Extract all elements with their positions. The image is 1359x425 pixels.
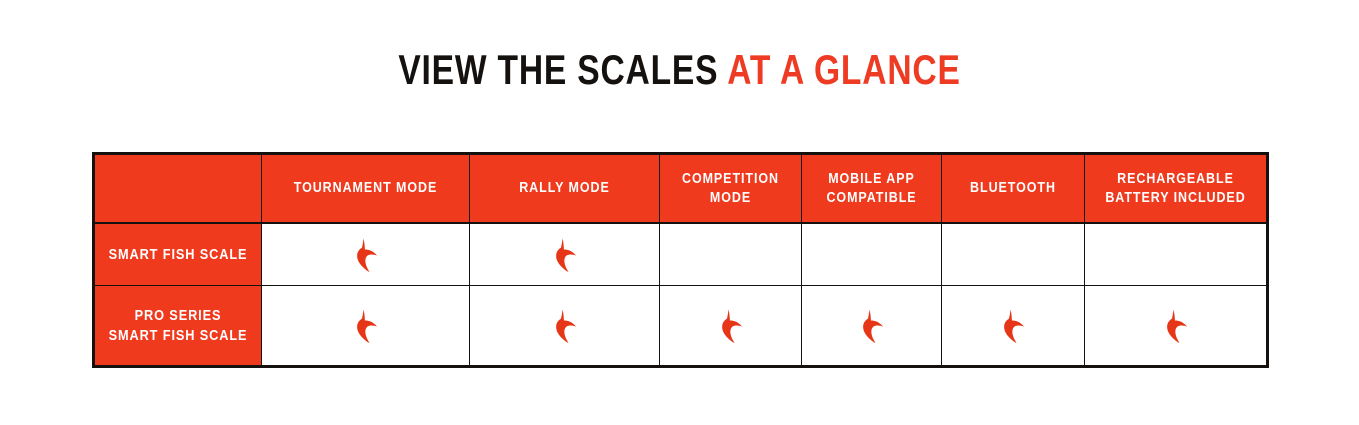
table-row: SMART FISH SCALE	[94, 223, 1268, 286]
cell-pro-series-rally-mode	[470, 286, 660, 367]
column-header-mobile-app-compatible: MOBILE APP COMPATIBLE	[802, 154, 942, 224]
cell-smart-fish-scale-tournament-mode	[262, 223, 470, 286]
check-hook-icon	[720, 309, 742, 343]
row-header-pro-series-smart-fish-scale: PRO SERIES SMART FISH SCALE	[94, 286, 262, 367]
table-header-row: TOURNAMENT MODE RALLY MODE COMPETITION M…	[94, 154, 1268, 224]
cell-smart-fish-scale-rally-mode	[470, 223, 660, 286]
check-hook-icon	[554, 238, 576, 272]
row-header-label: PRO SERIES SMART FISH SCALE	[105, 306, 251, 346]
cell-smart-fish-scale-competition-mode	[660, 223, 802, 286]
column-header-label: BLUETOOTH	[952, 179, 1074, 198]
cell-smart-fish-scale-mobile-app	[802, 223, 942, 286]
cell-pro-series-competition-mode	[660, 286, 802, 367]
column-header-label: MOBILE APP COMPATIBLE	[812, 170, 932, 208]
table-corner-cell	[94, 154, 262, 224]
scales-comparison-table: TOURNAMENT MODE RALLY MODE COMPETITION M…	[92, 152, 1269, 368]
row-header-label: SMART FISH SCALE	[105, 245, 251, 265]
check-hook-icon	[861, 309, 883, 343]
cell-pro-series-rechargeable	[1085, 286, 1268, 367]
column-header-bluetooth: BLUETOOTH	[942, 154, 1085, 224]
cell-empty	[802, 254, 941, 255]
page-title-main: VIEW THE SCALES	[398, 46, 718, 93]
column-header-label: RECHARGEABLE BATTERY INCLUDED	[1098, 170, 1254, 208]
table-row: PRO SERIES SMART FISH SCALE	[94, 286, 1268, 367]
check-hook-icon	[355, 309, 377, 343]
cell-smart-fish-scale-rechargeable	[1085, 223, 1268, 286]
column-header-tournament-mode: TOURNAMENT MODE	[262, 154, 470, 224]
page-title-accent: AT A GLANCE	[727, 46, 960, 93]
column-header-label: COMPETITION MODE	[670, 170, 791, 208]
column-header-label: TOURNAMENT MODE	[276, 179, 454, 198]
column-header-label: RALLY MODE	[483, 179, 646, 198]
cell-pro-series-mobile-app	[802, 286, 942, 367]
row-header-smart-fish-scale: SMART FISH SCALE	[94, 223, 262, 286]
cell-empty	[942, 254, 1084, 255]
cell-empty	[660, 254, 801, 255]
check-hook-icon	[1002, 309, 1024, 343]
column-header-competition-mode: COMPETITION MODE	[660, 154, 802, 224]
cell-smart-fish-scale-bluetooth	[942, 223, 1085, 286]
check-hook-icon	[1165, 309, 1187, 343]
cell-empty	[1085, 254, 1266, 255]
column-header-rally-mode: RALLY MODE	[470, 154, 660, 224]
cell-pro-series-bluetooth	[942, 286, 1085, 367]
page-title: VIEW THE SCALES AT A GLANCE	[136, 44, 1223, 96]
cell-pro-series-tournament-mode	[262, 286, 470, 367]
check-hook-icon	[554, 309, 576, 343]
column-header-rechargeable-battery: RECHARGEABLE BATTERY INCLUDED	[1085, 154, 1268, 224]
check-hook-icon	[355, 238, 377, 272]
